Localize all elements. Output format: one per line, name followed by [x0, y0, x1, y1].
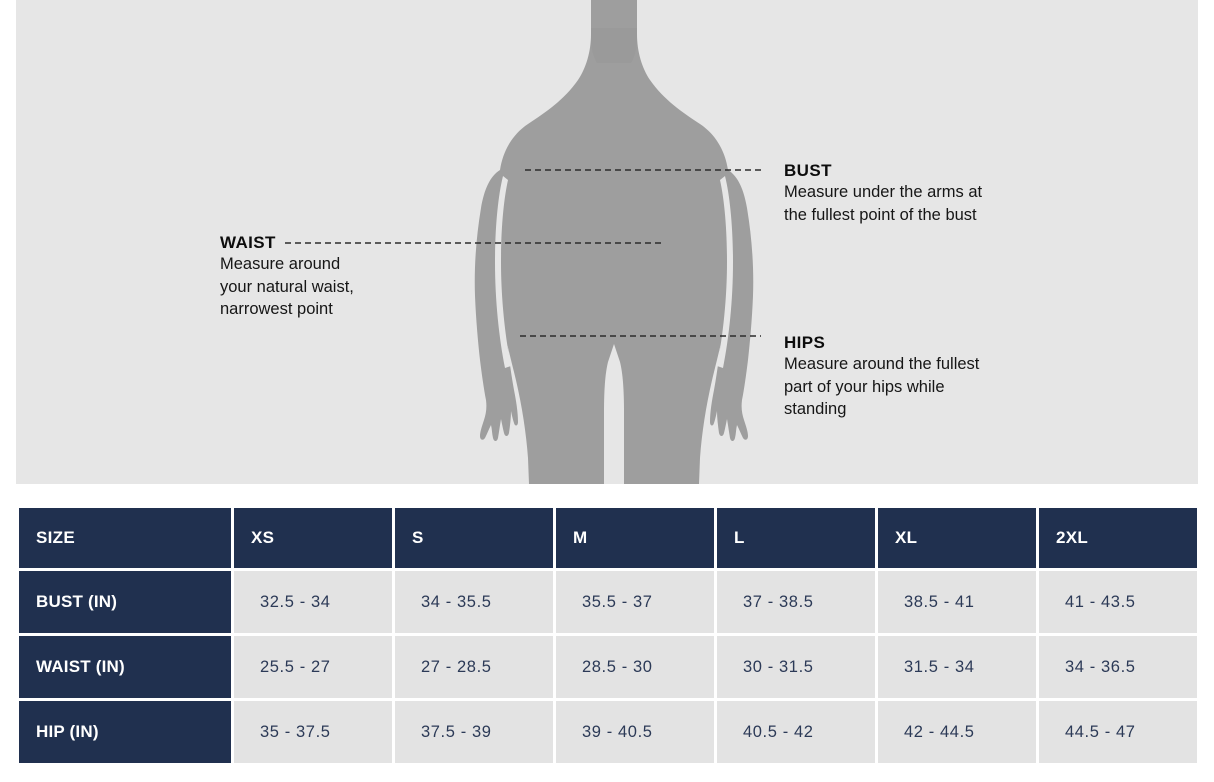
- cell-hip-xs: 35 - 37.5: [234, 701, 392, 763]
- table-header-row: SIZE XS S M L XL 2XL: [19, 508, 1197, 568]
- cell-bust-xl: 38.5 - 41: [878, 571, 1036, 633]
- table-cell: 38.5 - 41: [878, 571, 1036, 633]
- cell-waist-s: 27 - 28.5: [395, 636, 553, 698]
- annotation-bust-body: Measure under the arms at the fullest po…: [784, 181, 1084, 226]
- table-cell: 42 - 44.5: [878, 701, 1036, 763]
- table-row: HIP (IN) 35 - 37.5 37.5 - 39 39 - 40.5 4…: [19, 701, 1197, 763]
- measurement-diagram-panel: BUST Measure under the arms at the fulle…: [16, 0, 1198, 484]
- row-header-cell: HIP (IN): [19, 701, 231, 763]
- table-cell: 37.5 - 39: [395, 701, 553, 763]
- table-header-cell: S: [395, 508, 553, 568]
- column-header-xl: XL: [878, 508, 1036, 568]
- table-header-cell: SIZE: [19, 508, 231, 568]
- annotation-bust-title: BUST: [784, 161, 1084, 181]
- table-cell: 28.5 - 30: [556, 636, 714, 698]
- cell-hip-s: 37.5 - 39: [395, 701, 553, 763]
- column-header-2xl: 2XL: [1039, 508, 1197, 568]
- annotation-waist-body: Measure around your natural waist, narro…: [220, 253, 470, 321]
- column-header-s: S: [395, 508, 553, 568]
- column-header-xs: XS: [234, 508, 392, 568]
- table-header-cell: L: [717, 508, 875, 568]
- cell-hip-m: 39 - 40.5: [556, 701, 714, 763]
- table-cell: 44.5 - 47: [1039, 701, 1197, 763]
- table-cell: 34 - 36.5: [1039, 636, 1197, 698]
- size-guide-page: BUST Measure under the arms at the fulle…: [0, 0, 1214, 782]
- row-label-bust: BUST (IN): [19, 571, 231, 633]
- cell-hip-2xl: 44.5 - 47: [1039, 701, 1197, 763]
- table-cell: 35 - 37.5: [234, 701, 392, 763]
- table-cell: 41 - 43.5: [1039, 571, 1197, 633]
- table-cell: 27 - 28.5: [395, 636, 553, 698]
- table-cell: 35.5 - 37: [556, 571, 714, 633]
- column-header-m: M: [556, 508, 714, 568]
- table-header-cell: M: [556, 508, 714, 568]
- row-label-hip: HIP (IN): [19, 701, 231, 763]
- cell-waist-l: 30 - 31.5: [717, 636, 875, 698]
- annotation-waist-title: WAIST: [220, 233, 470, 253]
- cell-waist-m: 28.5 - 30: [556, 636, 714, 698]
- annotation-hips-title: HIPS: [784, 333, 1084, 353]
- table-row: WAIST (IN) 25.5 - 27 27 - 28.5 28.5 - 30…: [19, 636, 1197, 698]
- annotation-hips-body: Measure around the fullest part of your …: [784, 353, 1084, 421]
- table-cell: 25.5 - 27: [234, 636, 392, 698]
- table-header-cell: XS: [234, 508, 392, 568]
- table-header-cell: 2XL: [1039, 508, 1197, 568]
- cell-hip-xl: 42 - 44.5: [878, 701, 1036, 763]
- table-row: BUST (IN) 32.5 - 34 34 - 35.5 35.5 - 37 …: [19, 571, 1197, 633]
- cell-waist-2xl: 34 - 36.5: [1039, 636, 1197, 698]
- row-label-waist: WAIST (IN): [19, 636, 231, 698]
- cell-hip-l: 40.5 - 42: [717, 701, 875, 763]
- cell-bust-l: 37 - 38.5: [717, 571, 875, 633]
- column-header-l: L: [717, 508, 875, 568]
- table-cell: 37 - 38.5: [717, 571, 875, 633]
- row-header-cell: BUST (IN): [19, 571, 231, 633]
- table-cell: 34 - 35.5: [395, 571, 553, 633]
- annotation-hips: HIPS Measure around the fullest part of …: [784, 333, 1084, 421]
- column-header-size: SIZE: [19, 508, 231, 568]
- annotation-bust: BUST Measure under the arms at the fulle…: [784, 161, 1084, 226]
- size-chart-table: SIZE XS S M L XL 2XL: [16, 505, 1200, 766]
- table-cell: 30 - 31.5: [717, 636, 875, 698]
- cell-bust-xs: 32.5 - 34: [234, 571, 392, 633]
- row-header-cell: WAIST (IN): [19, 636, 231, 698]
- table-header-cell: XL: [878, 508, 1036, 568]
- table-cell: 39 - 40.5: [556, 701, 714, 763]
- cell-waist-xs: 25.5 - 27: [234, 636, 392, 698]
- annotation-waist: WAIST Measure around your natural waist,…: [220, 233, 470, 321]
- table-cell: 31.5 - 34: [878, 636, 1036, 698]
- cell-bust-2xl: 41 - 43.5: [1039, 571, 1197, 633]
- table-cell: 40.5 - 42: [717, 701, 875, 763]
- table-cell: 32.5 - 34: [234, 571, 392, 633]
- cell-bust-s: 34 - 35.5: [395, 571, 553, 633]
- cell-waist-xl: 31.5 - 34: [878, 636, 1036, 698]
- cell-bust-m: 35.5 - 37: [556, 571, 714, 633]
- neck-shadow: [591, 28, 637, 63]
